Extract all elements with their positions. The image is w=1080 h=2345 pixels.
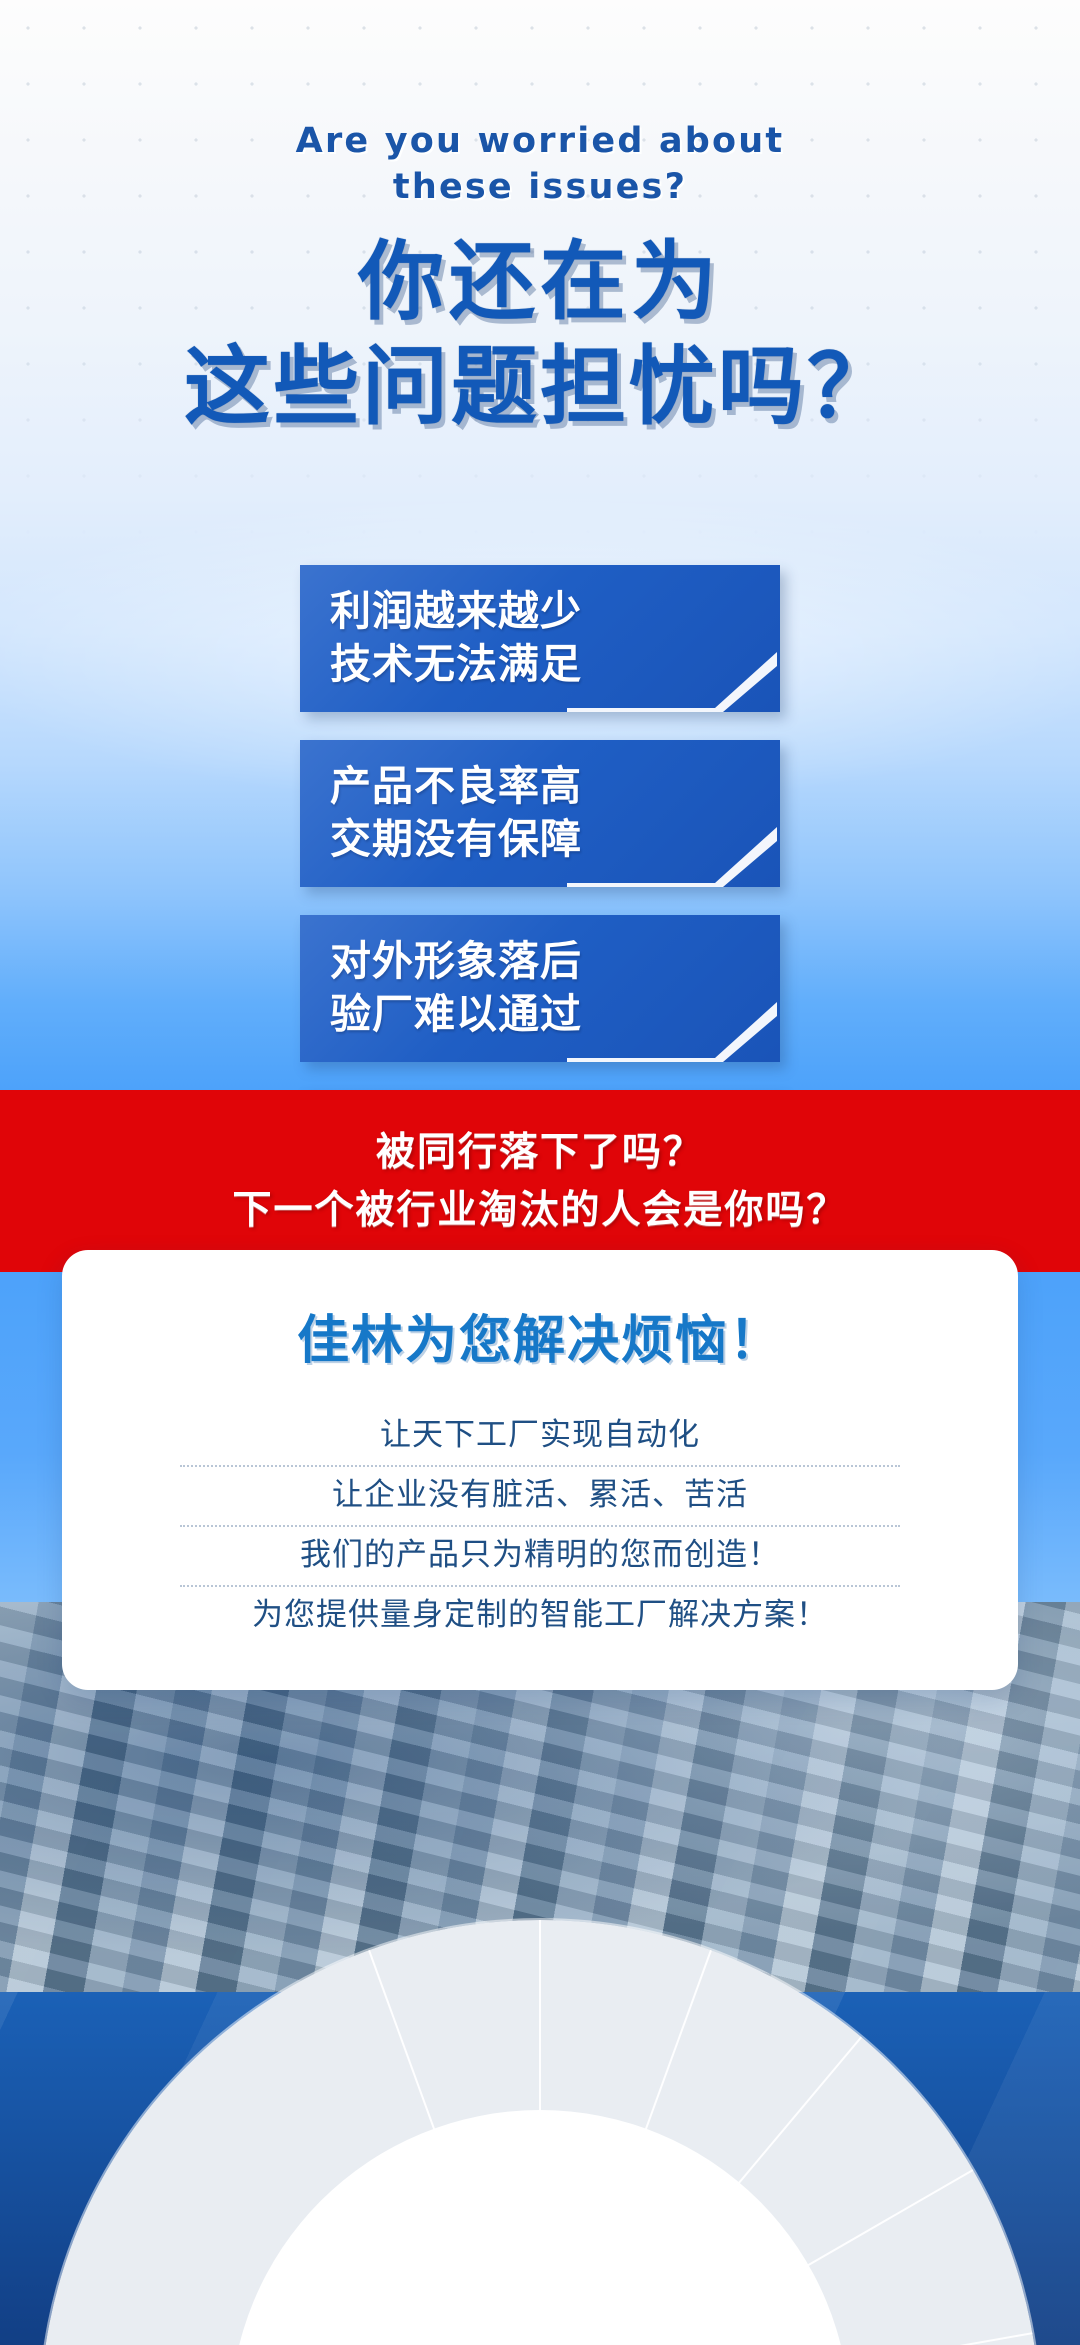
problem-box-3-line1: 对外形象落后 <box>330 937 582 985</box>
hero-english-line2: these issues? <box>393 167 687 207</box>
solution-item-2: 让企业没有脏活、累活、苦活 <box>180 1467 900 1527</box>
wheel-inner-disc <box>230 2110 850 2345</box>
red-warning-band: 被同行落下了吗？ 下一个被行业淘汰的人会是你吗？ <box>0 1090 1080 1272</box>
red-band-line2: 下一个被行业淘汰的人会是你吗？ <box>232 1188 847 1233</box>
problem-box-3-text: 对外形象落后 验厂难以通过 <box>330 935 754 1042</box>
problem-box-3[interactable]: 对外形象落后 验厂难以通过 <box>300 915 780 1062</box>
problem-box-1[interactable]: 利润越来越少 技术无法满足 <box>300 565 780 712</box>
problem-box-1-line1: 利润越来越少 <box>330 587 582 635</box>
problem-box-3-line2: 验厂难以通过 <box>330 990 582 1038</box>
promo-page: Are you worried about these issues? 你还在为… <box>0 0 1080 2345</box>
hero-chinese-line1: 你还在为 <box>358 232 722 332</box>
solution-title: 佳林为您解决烦恼！ <box>62 1298 1018 1373</box>
hero-english-line1: Are you worried about <box>296 121 785 161</box>
solution-card: 佳林为您解决烦恼！ 让天下工厂实现自动化 让企业没有脏活、累活、苦活 我们的产品… <box>62 1250 1018 1690</box>
problem-box-2-text: 产品不良率高 交期没有保障 <box>330 760 754 867</box>
problem-box-2-line1: 产品不良率高 <box>330 762 582 810</box>
hero-chinese-title: 你还在为 这些问题担忧吗？ <box>0 230 1080 440</box>
problem-box-1-line2: 技术无法满足 <box>330 640 582 688</box>
problem-box-2-line2: 交期没有保障 <box>330 815 582 863</box>
solution-section: 佳林为您解决烦恼！ 让天下工厂实现自动化 让企业没有脏活、累活、苦活 我们的产品… <box>0 1272 1080 1602</box>
hero-english-title: Are you worried about these issues? <box>0 118 1080 210</box>
problem-box-2[interactable]: 产品不良率高 交期没有保障 <box>300 740 780 887</box>
solution-item-3: 我们的产品只为精明的您而创造！ <box>180 1527 900 1587</box>
red-band-line1: 被同行落下了吗？ <box>376 1130 704 1175</box>
solution-item-4: 为您提供量身定制的智能工厂解决方案！ <box>180 1587 900 1645</box>
hero-section: Are you worried about these issues? 你还在为… <box>0 0 1080 1090</box>
problem-box-1-text: 利润越来越少 技术无法满足 <box>330 585 754 692</box>
hero-chinese-line2: 这些问题担忧吗？ <box>0 335 1080 440</box>
problem-box-list: 利润越来越少 技术无法满足 产品不良率高 交期没有保障 对外形象落后 <box>0 565 1080 1090</box>
capability-wheel-section: 自动化 包装设备 自动化 输送设备 工业智能 制造系统 中央厨房 智造系统 物流… <box>0 1602 1080 2345</box>
solution-item-list: 让天下工厂实现自动化 让企业没有脏活、累活、苦活 我们的产品只为精明的您而创造！… <box>180 1407 900 1645</box>
solution-item-1: 让天下工厂实现自动化 <box>180 1407 900 1467</box>
